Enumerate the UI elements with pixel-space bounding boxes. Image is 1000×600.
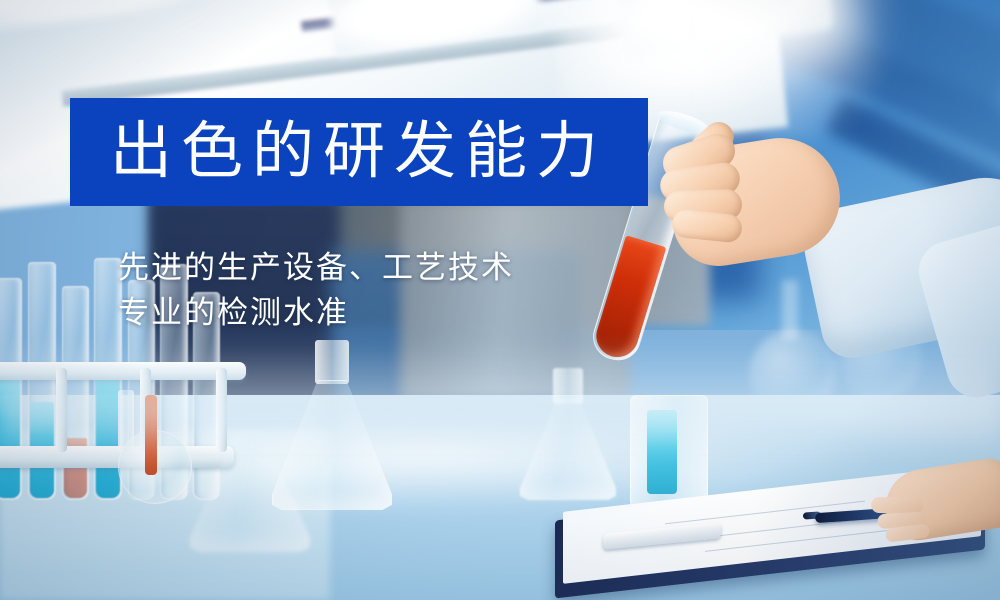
subtitle-line-1: 先进的生产设备、工艺技术 — [118, 246, 718, 291]
subtitle-line-2: 专业的检测水准 — [118, 291, 718, 336]
rack-upper-bar — [0, 362, 246, 380]
erlenmeyer-flask-icon — [190, 432, 310, 552]
round-bottom-flask-icon — [118, 430, 192, 504]
laboratory-banner: 出色的研发能力 先进的生产设备、工艺技术 专业的检测水准 — [0, 0, 1000, 600]
subtitle: 先进的生产设备、工艺技术 专业的检测水准 — [118, 246, 718, 336]
flask-fluid-red — [145, 395, 157, 475]
headline-band: 出色的研发能力 — [70, 98, 648, 206]
tube-fluid — [96, 370, 120, 498]
flask-neck — [553, 368, 583, 404]
flask-neck — [315, 340, 349, 384]
rack-post — [56, 368, 67, 452]
flask-body — [190, 432, 310, 552]
page-title: 出色的研发能力 — [110, 121, 607, 183]
tube-fluid — [0, 378, 20, 498]
clipboard-with-pen — [555, 470, 1000, 600]
